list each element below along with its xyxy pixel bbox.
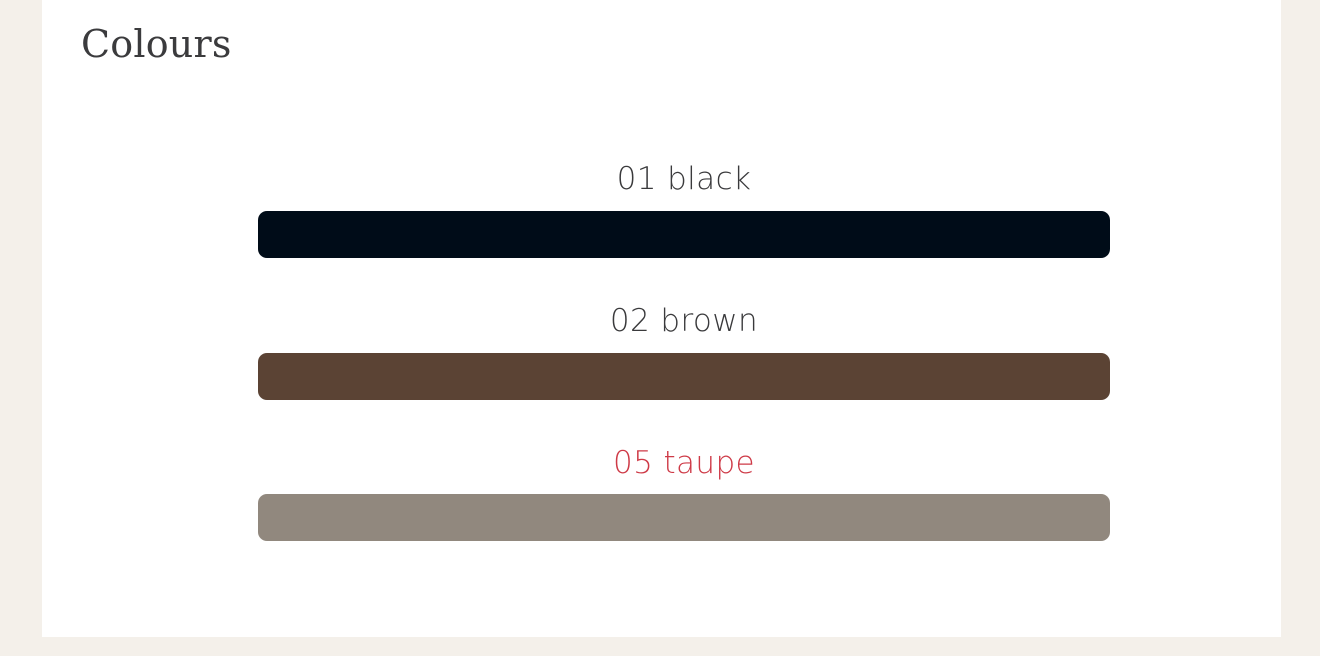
colour-swatch-label: 05 taupe <box>258 444 1110 483</box>
page-root: Colours 01 black 02 brown 05 taupe <box>0 0 1320 656</box>
colour-swatch-chip[interactable] <box>258 494 1110 541</box>
colour-swatch-row[interactable]: 05 taupe <box>258 444 1110 542</box>
colour-swatch-label: 02 brown <box>258 302 1110 341</box>
colour-swatch-row[interactable]: 02 brown <box>258 302 1110 400</box>
colour-swatch-label: 01 black <box>258 160 1110 199</box>
colour-swatch-row[interactable]: 01 black <box>258 160 1110 258</box>
page-title: Colours <box>81 22 232 68</box>
colour-swatch-chip[interactable] <box>258 211 1110 258</box>
colour-swatch-chip[interactable] <box>258 353 1110 400</box>
colour-swatch-list: 01 black 02 brown 05 taupe <box>258 160 1110 541</box>
content-card: Colours 01 black 02 brown 05 taupe <box>42 0 1281 637</box>
